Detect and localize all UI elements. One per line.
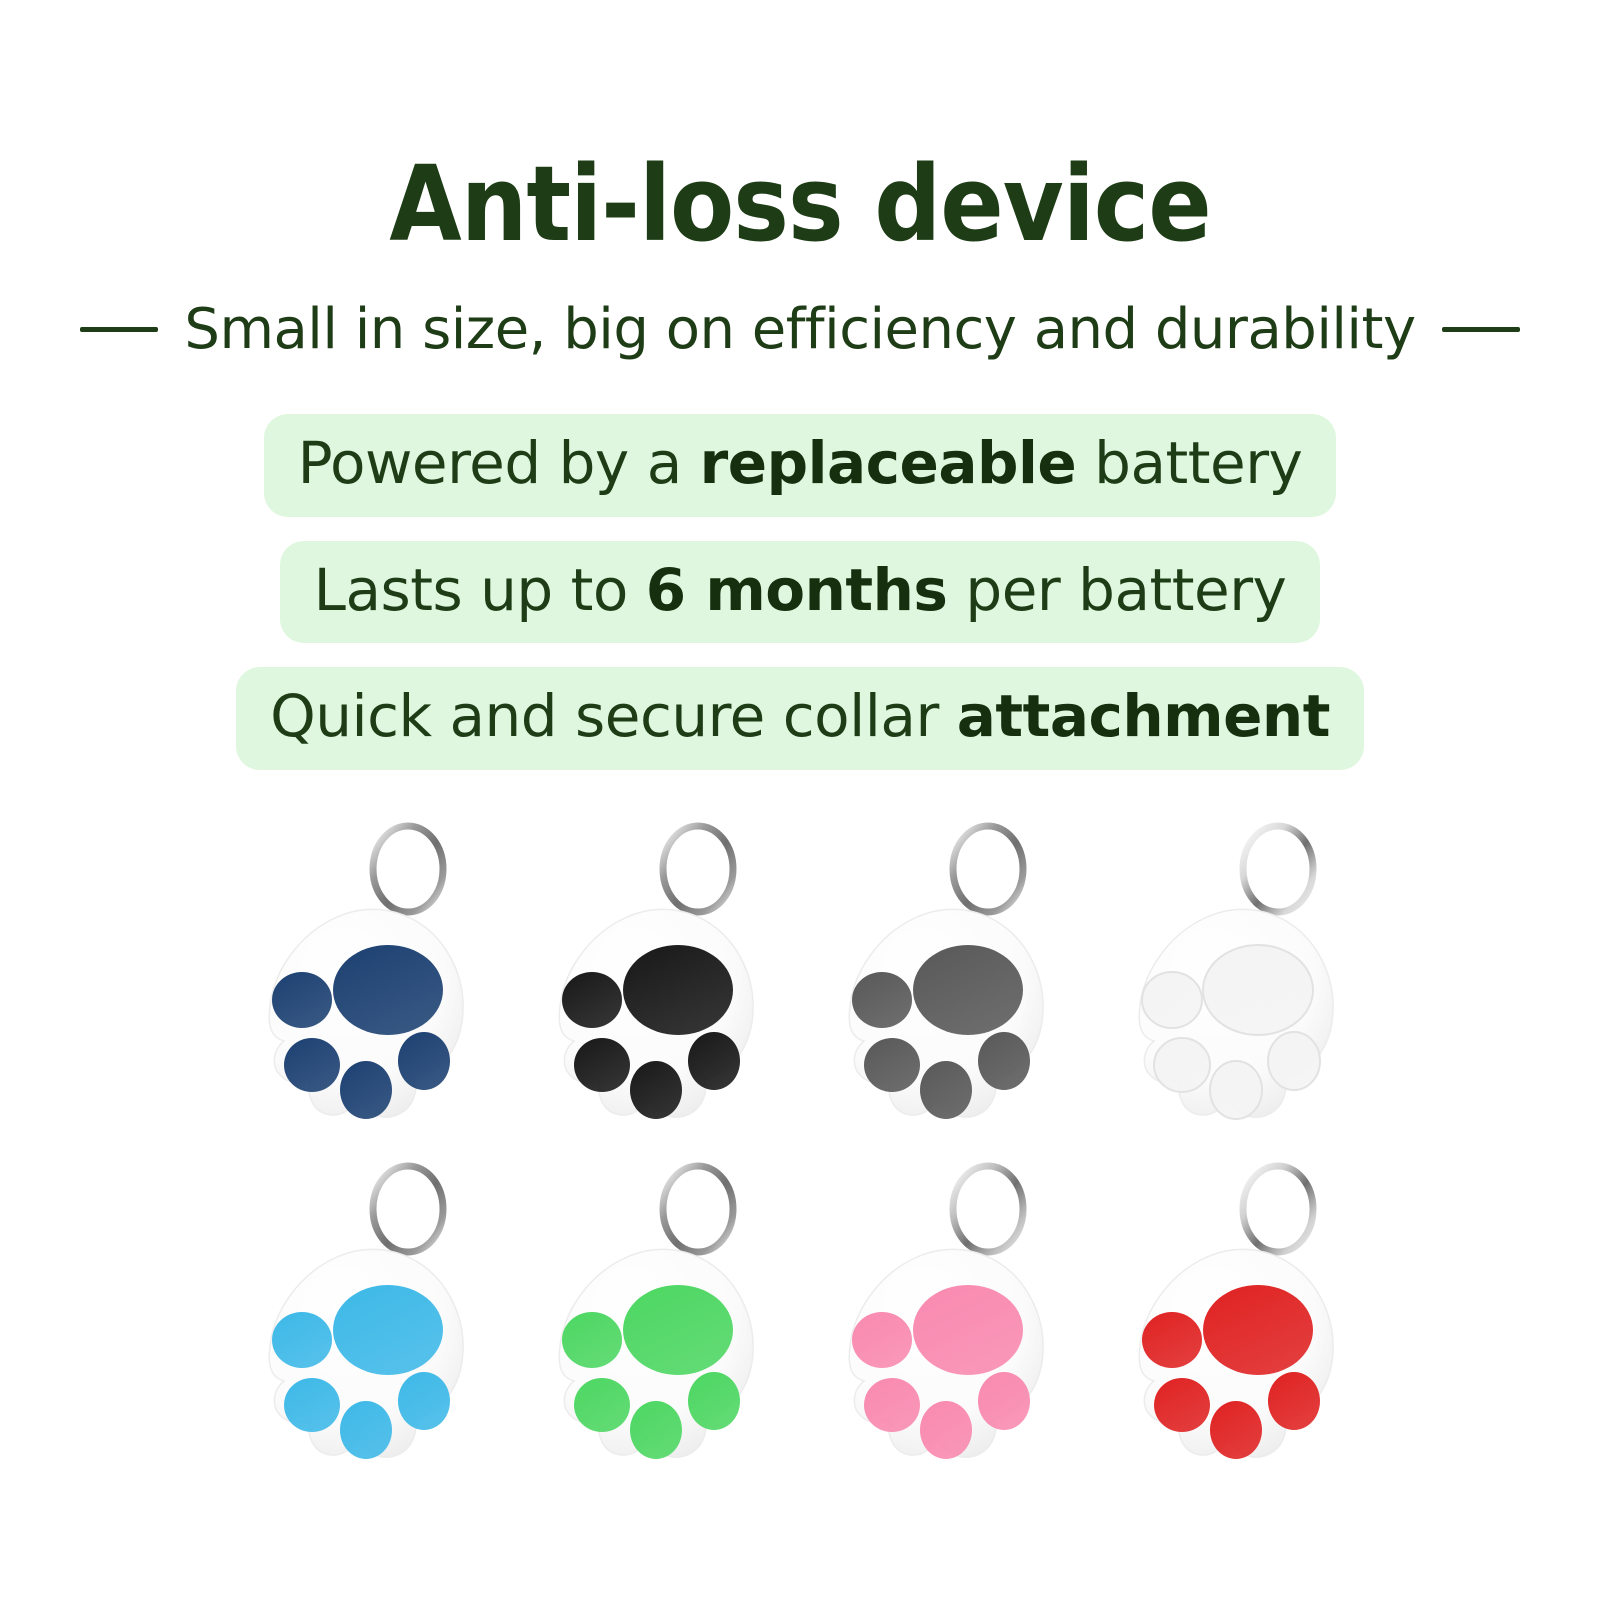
- badge-text-prefix: Quick and secure collar: [270, 682, 957, 750]
- right-rule-decoration: [1442, 327, 1520, 332]
- navy-paw-tag[interactable]: [240, 822, 490, 1142]
- product-cell-navy-paw-tag[interactable]: [220, 814, 510, 1154]
- gray-paw-tag[interactable]: [820, 822, 1070, 1142]
- feature-badge-list: Powered by a replaceable battery Lasts u…: [0, 414, 1600, 770]
- product-cell-red-paw-tag[interactable]: [1090, 1154, 1380, 1494]
- badge-text-prefix: Powered by a: [298, 429, 700, 497]
- badge-text-highlight: 6 months: [646, 556, 948, 624]
- badge-text-highlight: attachment: [957, 682, 1330, 750]
- light-blue-paw-tag[interactable]: [240, 1162, 490, 1482]
- black-paw-tag[interactable]: [530, 822, 780, 1142]
- badge-text-prefix: Lasts up to: [314, 556, 646, 624]
- product-cell-gray-paw-tag[interactable]: [800, 814, 1090, 1154]
- badge-text-highlight: replaceable: [700, 429, 1077, 497]
- subtitle-row: Small in size, big on efficiency and dur…: [0, 297, 1600, 362]
- pink-paw-tag[interactable]: [820, 1162, 1070, 1482]
- badge-text-suffix: per battery: [947, 556, 1286, 624]
- left-rule-decoration: [80, 327, 158, 332]
- feature-badge-battery: Powered by a replaceable battery: [264, 414, 1337, 517]
- product-cell-green-paw-tag[interactable]: [510, 1154, 800, 1494]
- page-subtitle: Small in size, big on efficiency and dur…: [184, 297, 1415, 362]
- product-color-grid: [220, 814, 1380, 1494]
- badge-text-suffix: battery: [1076, 429, 1302, 497]
- product-cell-pink-paw-tag[interactable]: [800, 1154, 1090, 1494]
- page-title: Anti-loss device: [389, 150, 1210, 259]
- product-cell-black-paw-tag[interactable]: [510, 814, 800, 1154]
- white-paw-tag[interactable]: [1110, 822, 1360, 1142]
- product-cell-white-paw-tag[interactable]: [1090, 814, 1380, 1154]
- red-paw-tag[interactable]: [1110, 1162, 1360, 1482]
- feature-badge-attachment: Quick and secure collar attachment: [236, 667, 1364, 770]
- feature-badge-duration: Lasts up to 6 months per battery: [280, 541, 1321, 644]
- green-paw-tag[interactable]: [530, 1162, 780, 1482]
- product-cell-light-blue-paw-tag[interactable]: [220, 1154, 510, 1494]
- product-feature-page: Anti-loss device Small in size, big on e…: [0, 0, 1600, 1600]
